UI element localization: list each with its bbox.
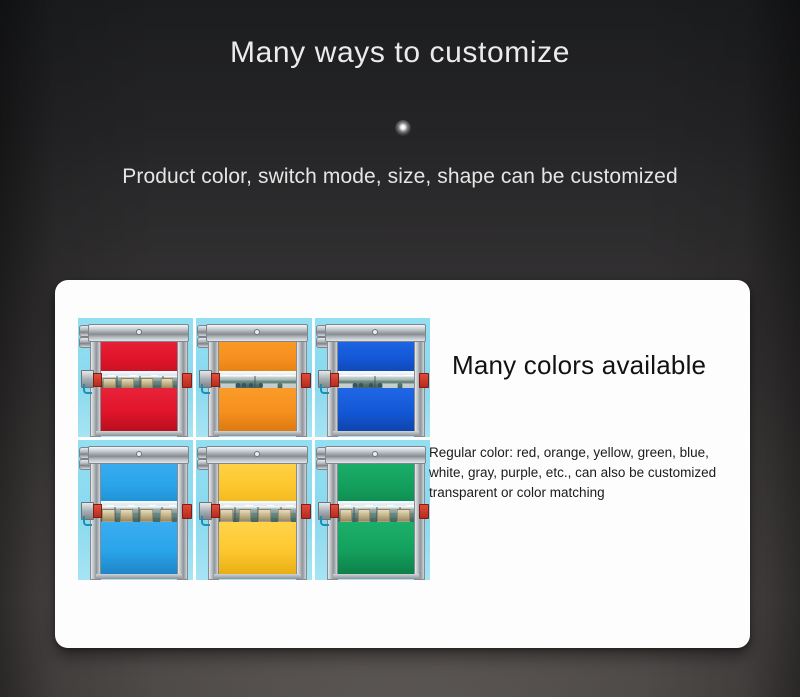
warehouse-scene [216, 503, 298, 524]
door-emergency-button-right [301, 504, 311, 519]
door-sample-red[interactable] [78, 318, 193, 437]
warehouse-scene [98, 503, 180, 524]
curtain-lower-panel [335, 388, 417, 431]
door-curtain [335, 460, 417, 574]
door-assembly [78, 440, 193, 580]
door-emergency-button-left [330, 373, 339, 387]
warehouse-scene [335, 503, 417, 524]
curtain-upper-panel [216, 338, 298, 371]
door-assembly [315, 318, 430, 437]
door-assembly [78, 318, 193, 437]
curtain-lower-panel [98, 522, 180, 574]
page-subtitle: Product color, switch mode, size, shape … [0, 165, 800, 189]
door-emergency-button-right [419, 373, 429, 388]
door-header-beam [88, 446, 189, 464]
curtain-upper-panel [98, 460, 180, 501]
door-header-beam [206, 446, 307, 464]
door-emergency-button-right [301, 373, 311, 388]
door-header-beam [88, 324, 189, 342]
curtain-upper-panel [216, 460, 298, 501]
door-emergency-button-left [330, 504, 339, 518]
colors-heading: Many colors available [452, 350, 706, 381]
curtain-lower-panel [335, 522, 417, 574]
door-bottom-bar [214, 574, 300, 579]
door-emergency-button-left [211, 373, 220, 387]
door-curtain [216, 338, 298, 431]
door-side-rail-right [296, 460, 307, 580]
door-emergency-button-left [93, 504, 102, 518]
colors-card: Many colors available Regular color: red… [55, 280, 750, 648]
glow-dot-decoration [395, 120, 411, 136]
door-color-gallery [78, 318, 430, 580]
door-header-beam [325, 324, 426, 342]
curtain-upper-panel [98, 338, 180, 371]
curtain-upper-panel [335, 338, 417, 371]
door-curtain [216, 460, 298, 574]
door-emergency-button-right [182, 373, 192, 388]
door-sample-sky-blue[interactable] [78, 440, 193, 580]
colors-description: Regular color: red, orange, yellow, gree… [429, 443, 734, 503]
promo-banner: Many ways to customize Product color, sw… [0, 0, 800, 697]
door-emergency-button-right [419, 504, 429, 519]
door-curtain [335, 338, 417, 431]
curtain-lower-panel [216, 522, 298, 574]
door-side-rail-right [177, 460, 188, 580]
curtain-upper-panel [335, 460, 417, 501]
page-title: Many ways to customize [0, 36, 800, 70]
door-sample-green[interactable] [315, 440, 430, 580]
door-curtain [98, 338, 180, 431]
door-bottom-bar [96, 574, 182, 579]
door-curtain [98, 460, 180, 574]
door-header-beam [206, 324, 307, 342]
door-emergency-button-right [182, 504, 192, 519]
curtain-lower-panel [98, 388, 180, 431]
door-emergency-button-left [93, 373, 102, 387]
door-assembly [196, 440, 311, 580]
curtain-lower-panel [216, 388, 298, 431]
door-sample-blue[interactable] [315, 318, 430, 437]
door-assembly [315, 440, 430, 580]
door-side-rail-right [414, 460, 425, 580]
door-bottom-bar [96, 431, 182, 436]
door-header-beam [325, 446, 426, 464]
door-bottom-bar [214, 431, 300, 436]
door-sample-yellow[interactable] [196, 440, 311, 580]
door-bottom-bar [333, 574, 419, 579]
door-sample-orange[interactable] [196, 318, 311, 437]
door-emergency-button-left [211, 504, 220, 518]
door-assembly [196, 318, 311, 437]
door-bottom-bar [333, 431, 419, 436]
